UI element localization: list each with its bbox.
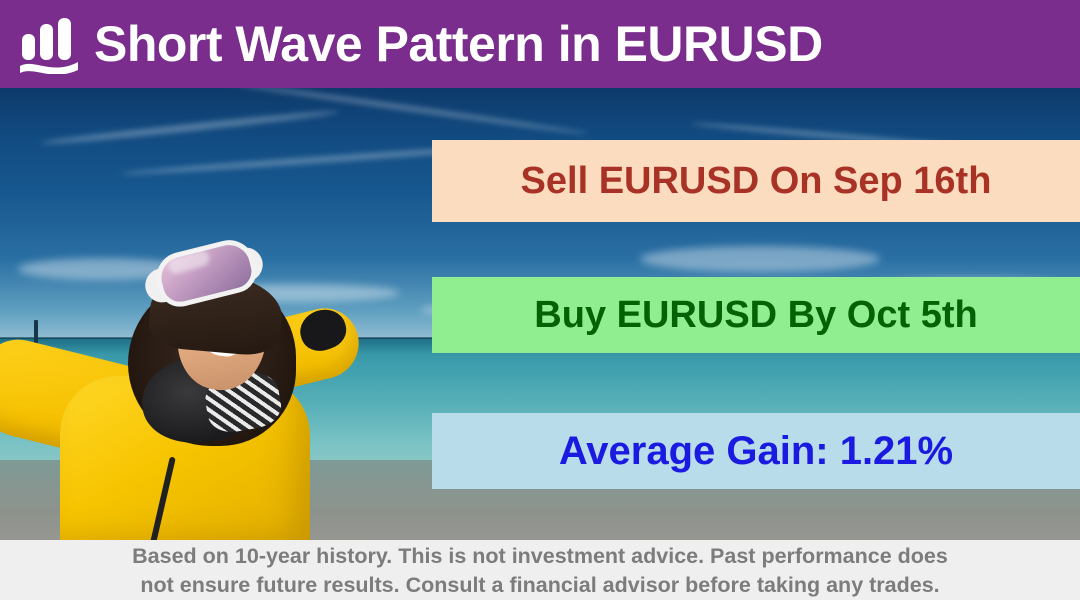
disclaimer-line-2: not ensure future results. Consult a fin… [10,571,1070,600]
disclaimer-line-1: Based on 10-year history. This is not in… [10,542,1070,571]
page-title: Short Wave Pattern in EURUSD [94,19,823,69]
cloud [640,246,880,272]
callout-buy-signal: Buy EURUSD By Oct 5th [432,277,1080,353]
callout-sell-signal: Sell EURUSD On Sep 16th [432,140,1080,222]
disclaimer-banner: Based on 10-year history. This is not in… [0,540,1080,600]
wave-bars-logo-icon [18,16,80,74]
person-figure [0,88,440,540]
poster-canvas: Short Wave Pattern in EURUSD [0,0,1080,600]
header-bar: Short Wave Pattern in EURUSD [0,0,1080,88]
callout-average-gain: Average Gain: 1.21% [432,413,1080,489]
